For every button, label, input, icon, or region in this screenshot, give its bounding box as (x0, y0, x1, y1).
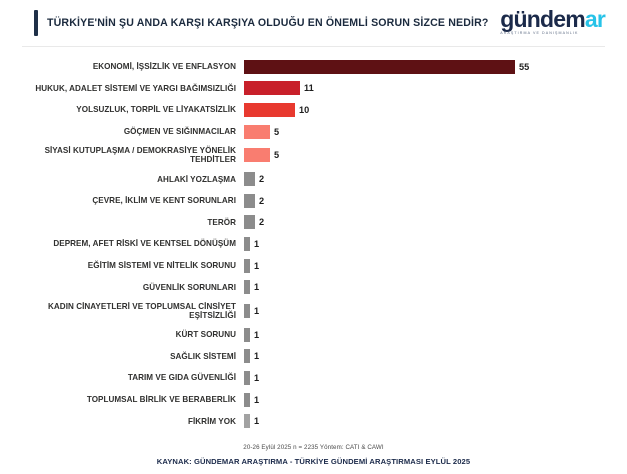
bar (244, 103, 295, 117)
bar (244, 60, 515, 74)
bar-track: 1 (244, 389, 627, 411)
bar-category-label: SAĞLIK SİSTEMİ (0, 352, 244, 361)
bar (244, 148, 270, 162)
chart-row: SİYASİ KUTUPLAŞMA / DEMOKRASİYE YÖNELİK … (0, 142, 627, 168)
bar-value-label: 5 (274, 127, 279, 137)
chart-row: GÖÇMEN VE SIĞINMACILAR5 (0, 121, 627, 143)
bar-value-label: 1 (254, 239, 259, 249)
footer-source: KAYNAK: GÜNDEMAR ARAŞTIRMA - TÜRKİYE GÜN… (0, 457, 627, 466)
logo-text-main: gündem (500, 6, 585, 32)
bar-value-label: 1 (254, 351, 259, 361)
bar (244, 349, 250, 363)
bar-category-label: FİKRİM YOK (0, 417, 244, 426)
chart-row: EKONOMİ, İŞSİZLİK VE ENFLASYON55 (0, 56, 627, 78)
footer-methodology: 20-26 Eylül 2025 n = 2235 Yöntem: CATI &… (0, 444, 627, 451)
logo-subtitle: ARAŞTIRMA VE DANIŞMANLIK (500, 32, 605, 35)
chart-row: ÇEVRE, İKLİM VE KENT SORUNLARI2 (0, 190, 627, 212)
bar-value-label: 10 (299, 105, 309, 115)
bar-category-label: KÜRT SORUNU (0, 330, 244, 339)
bar-value-label: 1 (254, 373, 259, 383)
bar-category-label: GÖÇMEN VE SIĞINMACILAR (0, 127, 244, 136)
bar-track: 55 (244, 56, 627, 78)
bar-value-label: 1 (254, 306, 259, 316)
chart-row: TOPLUMSAL BİRLİK VE BERABERLİK1 (0, 389, 627, 411)
bar-value-label: 11 (304, 83, 314, 93)
bar (244, 125, 270, 139)
bar (244, 237, 250, 251)
logo-wordmark: gündemar (500, 8, 605, 31)
bar-track: 1 (244, 298, 627, 324)
bar-category-label: ÇEVRE, İKLİM VE KENT SORUNLARI (0, 196, 244, 205)
bar (244, 414, 250, 428)
chart-header: TÜRKİYE'NİN ŞU ANDA KARŞI KARŞIYA OLDUĞU… (0, 0, 627, 46)
chart-row: SAĞLIK SİSTEMİ1 (0, 346, 627, 368)
bar-category-label: KADIN CİNAYETLERİ VE TOPLUMSAL CİNSİYET … (0, 302, 244, 320)
chart-row: YOLSUZLUK, TORPİL VE LİYAKATSİZLİK10 (0, 99, 627, 121)
chart-row: HUKUK, ADALET SİSTEMİ VE YARGI BAĞIMSIZL… (0, 78, 627, 100)
bar-category-label: TOPLUMSAL BİRLİK VE BERABERLİK (0, 395, 244, 404)
bar-value-label: 5 (274, 150, 279, 160)
bar-value-label: 55 (519, 62, 529, 72)
bar-value-label: 1 (254, 416, 259, 426)
bar-category-label: TARIM VE GIDA GÜVENLİĞİ (0, 373, 244, 382)
bar-value-label: 1 (254, 395, 259, 405)
bar (244, 304, 250, 318)
bar-category-label: GÜVENLİK SORUNLARI (0, 283, 244, 292)
bar-category-label: HUKUK, ADALET SİSTEMİ VE YARGI BAĞIMSIZL… (0, 84, 244, 93)
bar (244, 280, 250, 294)
bar-category-label: SİYASİ KUTUPLAŞMA / DEMOKRASİYE YÖNELİK … (0, 146, 244, 164)
bar-track: 1 (244, 346, 627, 368)
bar-track: 1 (244, 233, 627, 255)
bar-category-label: DEPREM, AFET RİSKİ VE KENTSEL DÖNÜŞÜM (0, 239, 244, 248)
bar (244, 81, 300, 95)
bar (244, 371, 250, 385)
bar-value-label: 2 (259, 217, 264, 227)
bar-track: 2 (244, 190, 627, 212)
bar-track: 1 (244, 324, 627, 346)
chart-row: TARIM VE GIDA GÜVENLİĞİ1 (0, 367, 627, 389)
page-title: TÜRKİYE'NİN ŞU ANDA KARŞI KARŞIYA OLDUĞU… (47, 17, 489, 29)
chart-row: AHLAKİ YOZLAŞMA2 (0, 168, 627, 190)
chart-footer: 20-26 Eylül 2025 n = 2235 Yöntem: CATI &… (0, 444, 627, 466)
title-accent-bar (34, 10, 38, 36)
bar-category-label: EKONOMİ, İŞSİZLİK VE ENFLASYON (0, 62, 244, 71)
gundemar-logo: gündemar ARAŞTIRMA VE DANIŞMANLIK (500, 8, 605, 38)
chart-row: EĞİTİM SİSTEMİ VE NİTELİK SORUNU1 (0, 255, 627, 277)
bar-track: 1 (244, 367, 627, 389)
bar (244, 393, 250, 407)
horizontal-bar-chart: EKONOMİ, İŞSİZLİK VE ENFLASYON55HUKUK, A… (0, 47, 627, 432)
bar-value-label: 2 (259, 174, 264, 184)
bar-category-label: YOLSUZLUK, TORPİL VE LİYAKATSİZLİK (0, 105, 244, 114)
chart-row: KADIN CİNAYETLERİ VE TOPLUMSAL CİNSİYET … (0, 298, 627, 324)
bar-track: 1 (244, 410, 627, 432)
bar-category-label: EĞİTİM SİSTEMİ VE NİTELİK SORUNU (0, 261, 244, 270)
bar-track: 2 (244, 168, 627, 190)
bar-track: 5 (244, 142, 627, 168)
bar-track: 10 (244, 99, 627, 121)
bar-track: 2 (244, 212, 627, 234)
bar-track: 5 (244, 121, 627, 143)
chart-row: DEPREM, AFET RİSKİ VE KENTSEL DÖNÜŞÜM1 (0, 233, 627, 255)
bar (244, 259, 250, 273)
chart-row: KÜRT SORUNU1 (0, 324, 627, 346)
chart-row: GÜVENLİK SORUNLARI1 (0, 276, 627, 298)
logo-text-accent: ar (585, 6, 605, 32)
chart-row: FİKRİM YOK1 (0, 410, 627, 432)
bar-value-label: 1 (254, 282, 259, 292)
bar-category-label: AHLAKİ YOZLAŞMA (0, 175, 244, 184)
bar (244, 172, 255, 186)
chart-row: TERÖR2 (0, 212, 627, 234)
bar (244, 215, 255, 229)
bar-value-label: 2 (259, 196, 264, 206)
bar-track: 11 (244, 78, 627, 100)
bar-value-label: 1 (254, 330, 259, 340)
bar-track: 1 (244, 276, 627, 298)
bar-category-label: TERÖR (0, 218, 244, 227)
bar-track: 1 (244, 255, 627, 277)
bar (244, 328, 250, 342)
bar (244, 194, 255, 208)
bar-value-label: 1 (254, 261, 259, 271)
